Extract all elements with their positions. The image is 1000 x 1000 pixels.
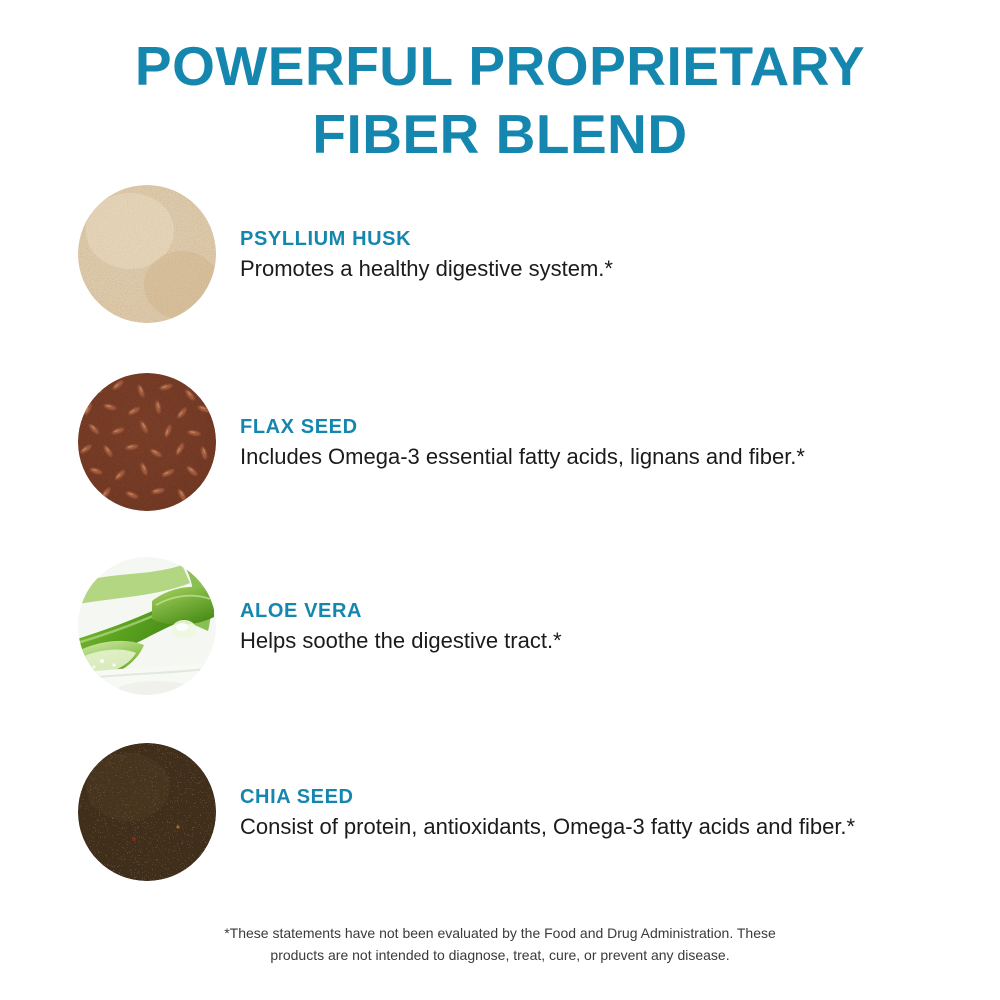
aloe-vera-thumbnail: [78, 557, 216, 695]
disclaimer-line-1: *These statements have not been evaluate…: [0, 922, 1000, 944]
page-title: POWERFUL PROPRIETARY FIBER BLEND: [0, 0, 1000, 168]
ingredient-item-flax-seed: FLAX SEED Includes Omega-3 essential fat…: [0, 373, 1000, 511]
chia-seed-icon: [78, 743, 216, 881]
chia-seed-thumbnail: [78, 743, 216, 881]
psyllium-husk-thumbnail: [78, 185, 216, 323]
ingredient-name: ALOE VERA: [240, 598, 960, 624]
ingredient-item-psyllium-husk: PSYLLIUM HUSK Promotes a healthy digesti…: [0, 185, 1000, 323]
ingredient-item-chia-seed: CHIA SEED Consist of protein, antioxidan…: [0, 743, 1000, 881]
ingredient-text-chia-seed: CHIA SEED Consist of protein, antioxidan…: [240, 784, 1000, 840]
ingredient-description: Includes Omega-3 essential fatty acids, …: [240, 443, 900, 470]
flax-seed-icon: [78, 373, 216, 511]
ingredient-name: CHIA SEED: [240, 784, 960, 810]
ingredient-name: PSYLLIUM HUSK: [240, 226, 960, 252]
flax-seed-thumbnail: [78, 373, 216, 511]
disclaimer-line-2: products are not intended to diagnose, t…: [0, 944, 1000, 966]
page-title-line-1: POWERFUL PROPRIETARY: [0, 32, 1000, 100]
aloe-vera-icon: [78, 557, 216, 695]
psyllium-husk-icon: [78, 185, 216, 323]
ingredient-description: Helps soothe the digestive tract.*: [240, 627, 900, 654]
disclaimer: *These statements have not been evaluate…: [0, 922, 1000, 966]
ingredient-item-aloe-vera: ALOE VERA Helps soothe the digestive tra…: [0, 557, 1000, 695]
ingredient-name: FLAX SEED: [240, 414, 960, 440]
ingredient-description: Promotes a healthy digestive system.*: [240, 255, 900, 282]
ingredient-description: Consist of protein, antioxidants, Omega-…: [240, 813, 900, 840]
page-title-line-2: FIBER BLEND: [0, 100, 1000, 168]
ingredient-text-aloe-vera: ALOE VERA Helps soothe the digestive tra…: [240, 598, 1000, 654]
ingredient-text-psyllium-husk: PSYLLIUM HUSK Promotes a healthy digesti…: [240, 226, 1000, 282]
ingredient-text-flax-seed: FLAX SEED Includes Omega-3 essential fat…: [240, 414, 1000, 470]
fiber-blend-infographic: POWERFUL PROPRIETARY FIBER BLEND: [0, 0, 1000, 1000]
